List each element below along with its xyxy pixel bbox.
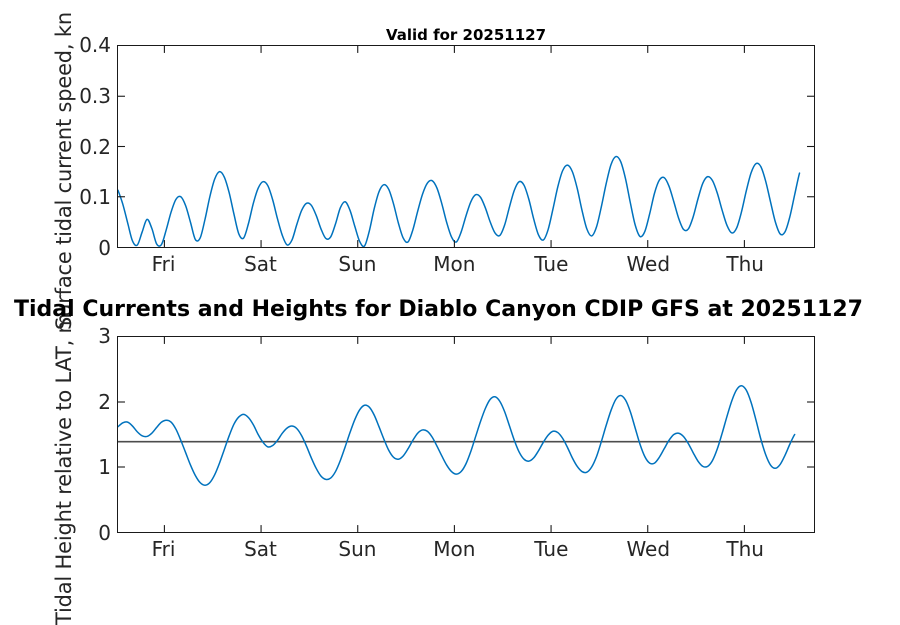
y-tick-labels-top: 00.10.20.30.4 (55, 45, 111, 248)
page-title: Tidal Currents and Heights for Diablo Ca… (14, 297, 900, 322)
x-tick-labels-bottom: FriSatSunMonTueWedThu (0, 537, 900, 563)
data-series-line-0 (118, 156, 800, 246)
y-tick-label: 1 (98, 455, 111, 479)
x-tick-label: Thu (726, 252, 764, 276)
subplot-title-top: Valid for 20251127 (117, 26, 815, 44)
x-tick-label: Sat (244, 537, 277, 561)
chart-panel-tidal-height (117, 336, 815, 533)
y-tick-label: 0.2 (79, 135, 111, 159)
data-series-line-0 (118, 386, 795, 485)
y-tick-label: 0.4 (79, 33, 111, 57)
y-tick-label: 3 (98, 324, 111, 348)
x-tick-label: Sun (338, 537, 376, 561)
x-tick-label: Fri (152, 252, 176, 276)
y-tick-label: 2 (98, 390, 111, 414)
chart-panel-current-speed (117, 45, 815, 248)
y-tick-label: 0.3 (79, 84, 111, 108)
y-tick-labels-bottom: 0123 (55, 336, 111, 533)
x-tick-label: Mon (433, 537, 475, 561)
tidal-height-line-plot (118, 337, 814, 532)
y-tick-label: 0.1 (79, 185, 111, 209)
x-tick-label: Tue (534, 537, 568, 561)
x-tick-label: Fri (152, 537, 176, 561)
x-tick-label: Wed (626, 537, 670, 561)
x-tick-label: Tue (534, 252, 568, 276)
x-tick-label: Sat (244, 252, 277, 276)
x-tick-label: Sun (338, 252, 376, 276)
x-tick-label: Mon (433, 252, 475, 276)
current-speed-line-plot (118, 46, 814, 247)
x-tick-labels-top: FriSatSunMonTueWedThu (0, 252, 900, 278)
x-tick-label: Wed (626, 252, 670, 276)
x-tick-label: Thu (726, 537, 764, 561)
